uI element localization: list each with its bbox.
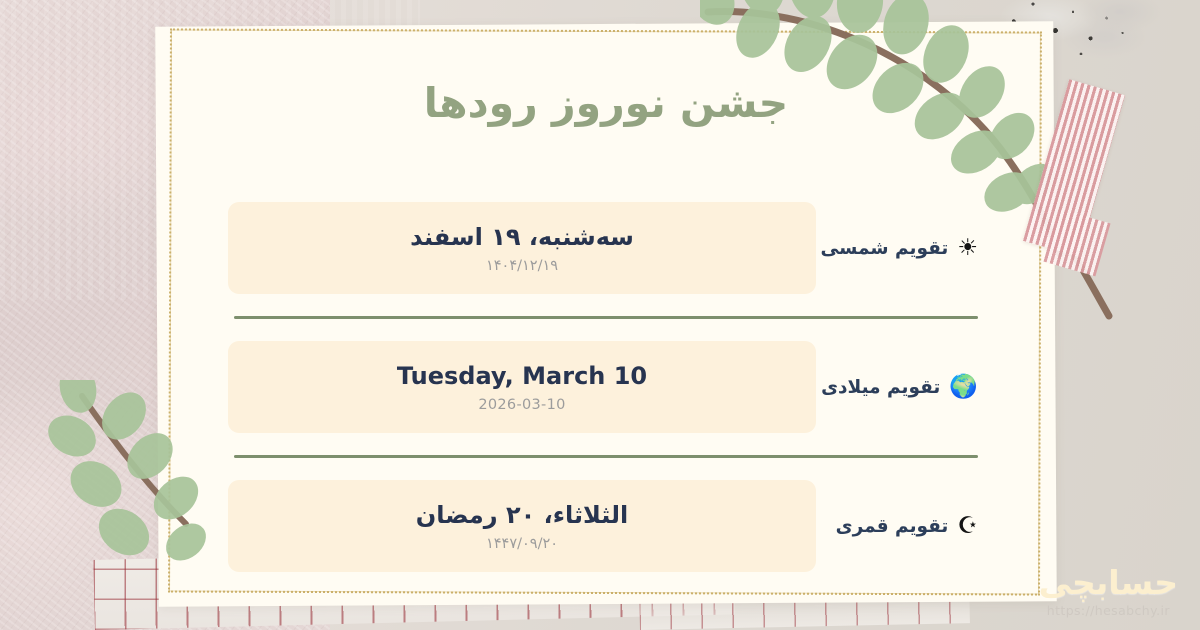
- calendar-row-gregorian-value-box: Tuesday, March 10 2026-03-10: [228, 341, 816, 433]
- calendar-row-solar-numeric-date: ۱۴۰۴/۱۲/۱۹: [486, 258, 558, 274]
- calendar-row-solar-label-text: تقویم شمسی: [820, 238, 948, 259]
- calendar-row-lunar-value-box: الثلاثاء، ۲۰ رمضان ۱۴۴۷/۰۹/۲۰: [228, 480, 816, 572]
- calendar-row-gregorian-date: Tuesday, March 10: [397, 362, 647, 390]
- calendar-row-solar: ☀ تقویم شمسی سه‌شنبه، ۱۹ اسفند ۱۴۰۴/۱۲/۱…: [228, 180, 984, 316]
- calendar-rows: ☀ تقویم شمسی سه‌شنبه، ۱۹ اسفند ۱۴۰۴/۱۲/۱…: [228, 180, 984, 594]
- calendar-card: جشن نوروز رودها ☀ تقویم شمسی سه‌شنبه، ۱۹…: [155, 21, 1057, 606]
- crescent-moon-icon: ☪: [957, 515, 978, 538]
- globe-icon: 🌍: [949, 376, 978, 399]
- calendar-row-gregorian-numeric-date: 2026-03-10: [478, 397, 565, 413]
- calendar-row-gregorian: 🌍 تقویم میلادی Tuesday, March 10 2026-03…: [228, 319, 984, 455]
- calendar-row-lunar: ☪ تقویم قمری الثلاثاء، ۲۰ رمضان ۱۴۴۷/۰۹/…: [228, 458, 984, 594]
- calendar-row-gregorian-label: 🌍 تقویم میلادی: [816, 376, 984, 399]
- calendar-row-gregorian-label-text: تقویم میلادی: [821, 377, 940, 398]
- card-content: جشن نوروز رودها ☀ تقویم شمسی سه‌شنبه، ۱۹…: [157, 24, 1055, 604]
- calendar-row-lunar-label-text: تقویم قمری: [836, 516, 949, 537]
- calendar-row-lunar-date: الثلاثاء، ۲۰ رمضان: [416, 501, 629, 529]
- watermark-url: https://hesabchy.ir: [1039, 603, 1178, 618]
- paint-splatter-decoration-secondary: [1060, 0, 1180, 60]
- watermark: حسابچی https://hesabchy.ir: [1039, 565, 1178, 618]
- sun-icon: ☀: [957, 237, 978, 260]
- calendar-row-solar-label: ☀ تقویم شمسی: [816, 237, 984, 260]
- page-title: جشن نوروز رودها: [157, 79, 1055, 127]
- calendar-row-lunar-numeric-date: ۱۴۴۷/۰۹/۲۰: [486, 536, 558, 552]
- watermark-brand-name: حسابچی: [1039, 565, 1178, 601]
- calendar-row-lunar-label: ☪ تقویم قمری: [816, 515, 984, 538]
- calendar-row-solar-value-box: سه‌شنبه، ۱۹ اسفند ۱۴۰۴/۱۲/۱۹: [228, 202, 816, 294]
- calendar-row-solar-date: سه‌شنبه، ۱۹ اسفند: [410, 223, 634, 251]
